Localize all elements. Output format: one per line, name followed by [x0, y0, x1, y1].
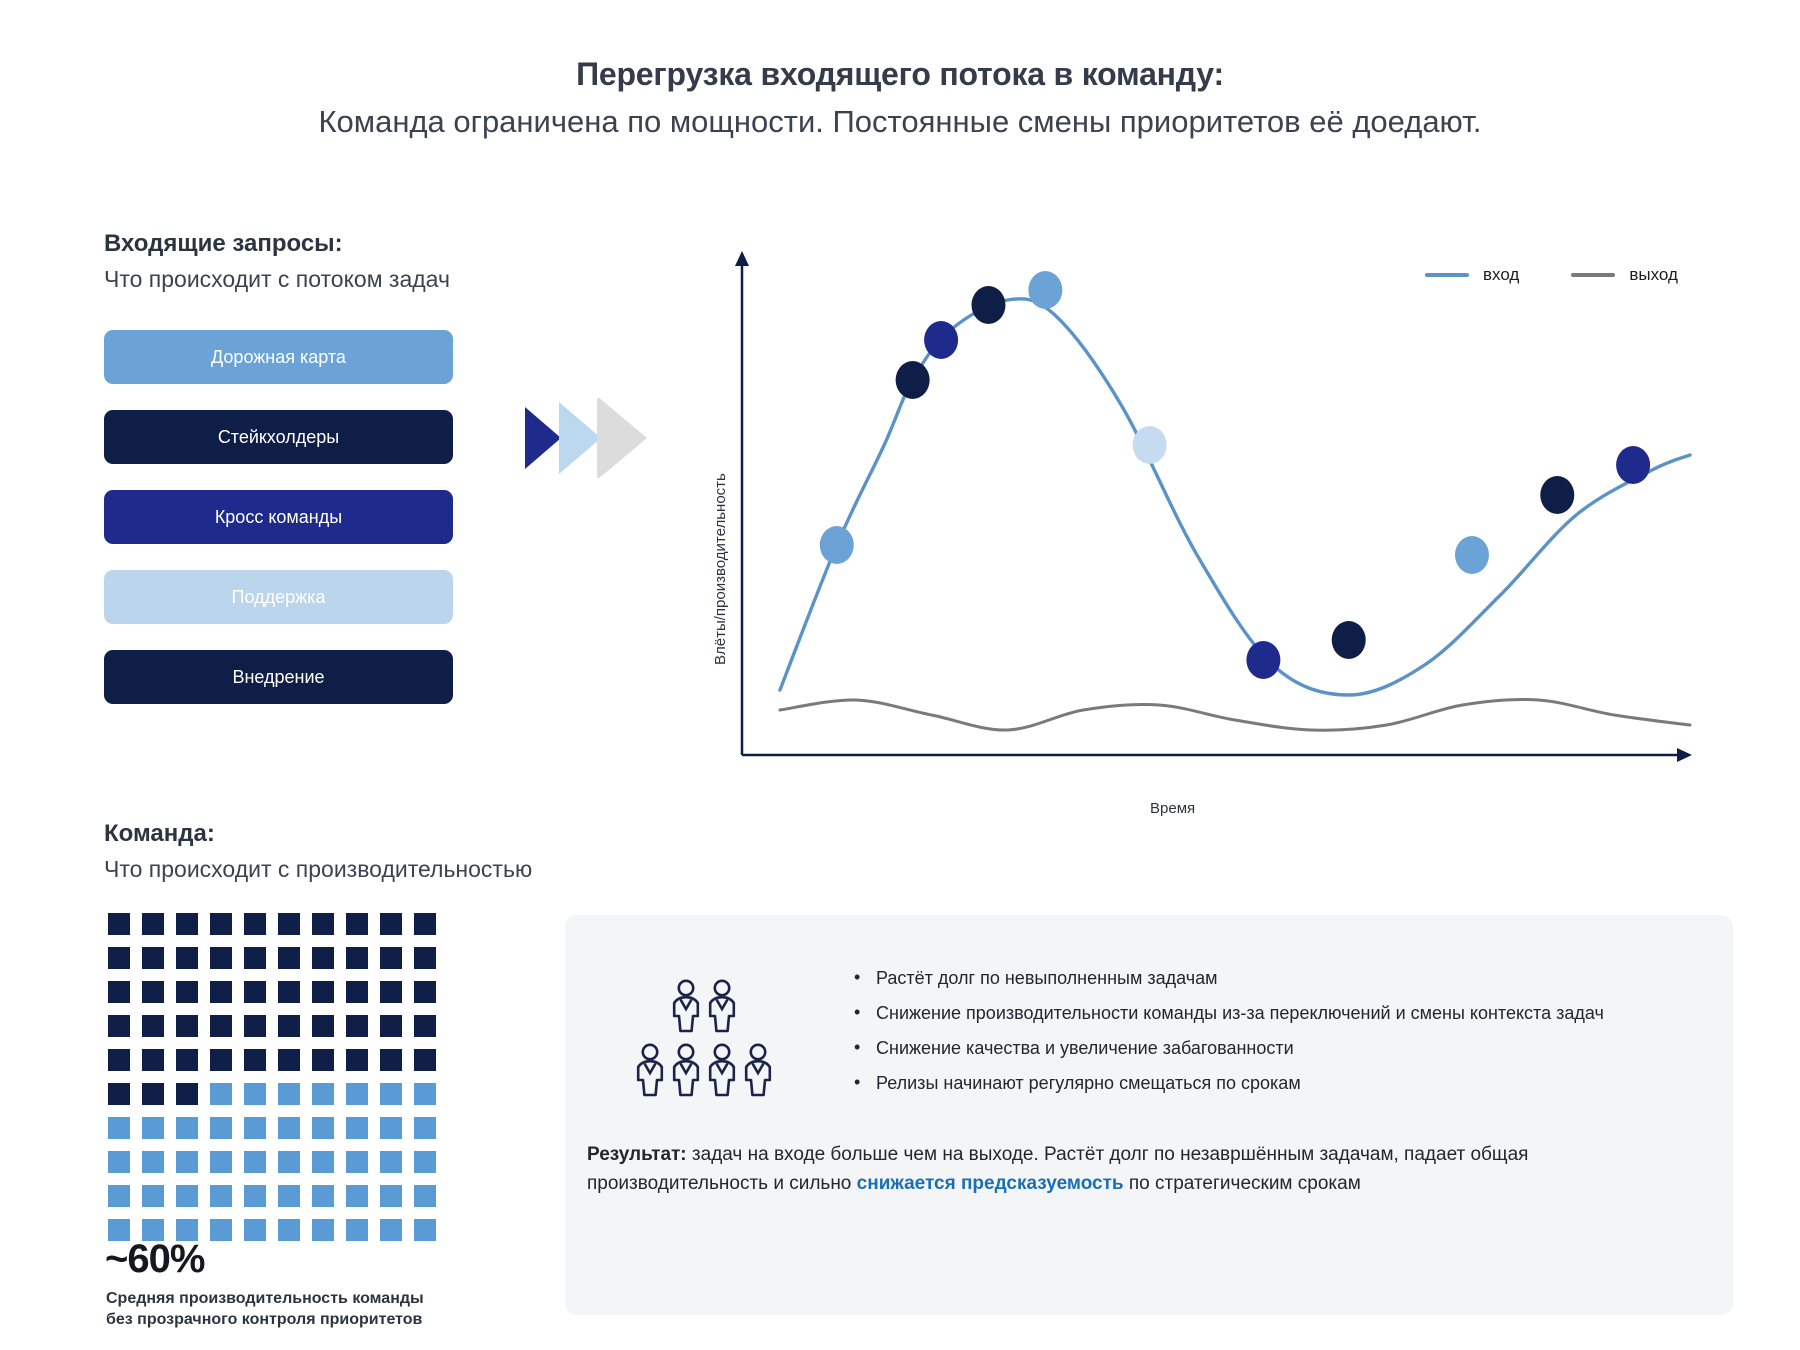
waffle-cell [380, 981, 402, 1003]
team-subheading: Что происходит с производительностью [104, 854, 532, 885]
consequence-bullet-1: Снижение производительности команды из-з… [850, 1000, 1680, 1026]
waffle-cell [414, 1083, 436, 1105]
waffle-cell [346, 913, 368, 935]
waffle-cell [142, 1015, 164, 1037]
waffle-cell [210, 1049, 232, 1071]
people-group-icon [633, 977, 783, 1122]
waffle-cell [142, 913, 164, 935]
incoming-subheading: Что происходит с потоком задач [104, 264, 450, 295]
y-axis-arrowhead-icon [735, 251, 749, 266]
incoming-pill-label: Дорожная карта [211, 347, 346, 368]
chart-data-point-0[interactable] [820, 526, 854, 564]
waffle-cell [380, 947, 402, 969]
person-icon [674, 1045, 698, 1095]
waffle-cell [210, 981, 232, 1003]
result-paragraph: Результат: задач на входе больше чем на … [587, 1140, 1697, 1199]
waffle-cell [312, 1219, 334, 1241]
legend-label: вход [1483, 265, 1519, 285]
waffle-cell [210, 1185, 232, 1207]
waffle-cell [414, 947, 436, 969]
waffle-cell [244, 1219, 266, 1241]
legend-label: выход [1629, 265, 1678, 285]
waffle-cell [210, 1015, 232, 1037]
waffle-cell [176, 1083, 198, 1105]
waffle-cell [244, 1185, 266, 1207]
waffle-cell [346, 1219, 368, 1241]
chart-legend: входвыход [1425, 265, 1678, 285]
waffle-cell [346, 1049, 368, 1071]
waffle-cell [244, 1015, 266, 1037]
chart-series-line-выход [780, 699, 1690, 730]
waffle-cell [414, 1015, 436, 1037]
infographic-page: Перегрузка входящего потока в команду: К… [0, 0, 1800, 1350]
waffle-cell [210, 1219, 232, 1241]
incoming-pill-1[interactable]: Стейкхолдеры [104, 410, 453, 464]
incoming-pill-label: Кросс команды [215, 507, 342, 528]
waffle-cell [108, 947, 130, 969]
waffle-cell [414, 1219, 436, 1241]
waffle-cell [108, 1083, 130, 1105]
waffle-cell [244, 1083, 266, 1105]
waffle-cell [108, 1117, 130, 1139]
waffle-cell [176, 1151, 198, 1173]
waffle-cell [278, 1219, 300, 1241]
incoming-request-pill-list: Дорожная картаСтейкхолдерыКросс командыП… [104, 330, 453, 704]
waffle-cell [142, 1151, 164, 1173]
waffle-cell [380, 1083, 402, 1105]
consequences-card: Растёт долг по невыполненным задачамСниж… [565, 915, 1733, 1315]
waffle-cell [210, 913, 232, 935]
chart-data-point-1[interactable] [896, 361, 930, 399]
waffle-cell [210, 947, 232, 969]
waffle-cell [380, 1015, 402, 1037]
waffle-cell [244, 981, 266, 1003]
waffle-cell [108, 1185, 130, 1207]
legend-swatch [1571, 273, 1615, 277]
result-highlight: снижается предсказуемость [857, 1173, 1124, 1194]
x-axis-arrowhead-icon [1677, 748, 1692, 762]
waffle-cell [414, 981, 436, 1003]
waffle-cell [380, 913, 402, 935]
chart-data-point-10[interactable] [1616, 446, 1650, 484]
chart-y-axis-label: Влёты/производительность [698, 65, 715, 365]
waffle-cell [176, 1117, 198, 1139]
productivity-caption: Средняя производительность командыбез пр… [106, 1288, 536, 1330]
waffle-cell [142, 1117, 164, 1139]
waffle-cell [312, 947, 334, 969]
waffle-cell [278, 1049, 300, 1071]
waffle-cell [176, 1185, 198, 1207]
waffle-cell [380, 1185, 402, 1207]
waffle-cell [142, 1185, 164, 1207]
waffle-cell [380, 1219, 402, 1241]
waffle-cell [312, 1185, 334, 1207]
waffle-cell [142, 1083, 164, 1105]
person-icon [710, 1045, 734, 1095]
waffle-cell [414, 1185, 436, 1207]
waffle-cell [210, 1083, 232, 1105]
incoming-pill-label: Поддержка [232, 587, 326, 608]
waffle-cell [278, 913, 300, 935]
incoming-pill-label: Стейкхолдеры [218, 427, 339, 448]
person-icon [674, 981, 698, 1031]
waffle-cell [244, 1049, 266, 1071]
person-icon [746, 1045, 770, 1095]
legend-item-выход: выход [1571, 265, 1678, 285]
productivity-caption-line: Средняя производительность команды [106, 1288, 536, 1309]
waffle-cell [278, 1117, 300, 1139]
waffle-cell [176, 1049, 198, 1071]
incoming-section-heading: Входящие запросы: Что происходит с поток… [104, 228, 450, 295]
person-icon [710, 981, 734, 1031]
waffle-cell [346, 1185, 368, 1207]
waffle-cell [312, 1117, 334, 1139]
header-block: Перегрузка входящего потока в команду: К… [0, 54, 1800, 142]
waffle-cell [312, 981, 334, 1003]
waffle-cell [210, 1151, 232, 1173]
team-heading: Команда: [104, 818, 532, 849]
chart-data-point-9[interactable] [1540, 476, 1574, 514]
waffle-cell [108, 1049, 130, 1071]
chart-data-point-3[interactable] [971, 286, 1005, 324]
chevron-arrow-icon-0 [525, 407, 561, 469]
waffle-cell [414, 1049, 436, 1071]
flow-arrows [525, 398, 685, 478]
waffle-cell [244, 1151, 266, 1173]
legend-item-вход: вход [1425, 265, 1519, 285]
waffle-cell [108, 981, 130, 1003]
waffle-cell [312, 1151, 334, 1173]
productivity-caption-line: без прозрачного контроля приоритетов [106, 1309, 536, 1330]
consequences-bullet-list: Растёт долг по невыполненным задачамСниж… [850, 965, 1680, 1105]
waffle-cell [278, 1083, 300, 1105]
waffle-cell [278, 947, 300, 969]
incoming-heading: Входящие запросы: [104, 228, 450, 259]
legend-swatch [1425, 273, 1469, 277]
waffle-cell [346, 1117, 368, 1139]
waffle-cell [278, 1015, 300, 1037]
result-text-part2: по стратегическим срокам [1124, 1173, 1361, 1194]
productivity-percent: ~60% [105, 1237, 204, 1282]
chart-data-point-6[interactable] [1246, 641, 1280, 679]
chevron-arrow-icon-1 [559, 402, 601, 474]
result-label: Результат: [587, 1144, 687, 1165]
waffle-cell [108, 913, 130, 935]
waffle-cell [278, 1151, 300, 1173]
chart-x-axis-label: Время [1150, 800, 1195, 817]
waffle-cell [108, 1151, 130, 1173]
waffle-cell [278, 1185, 300, 1207]
waffle-cell [244, 947, 266, 969]
chart-data-point-5[interactable] [1133, 426, 1167, 464]
waffle-cell [346, 1015, 368, 1037]
chart-data-point-2[interactable] [924, 321, 958, 359]
waffle-cell [414, 1151, 436, 1173]
waffle-cell [414, 1117, 436, 1139]
waffle-cell [142, 1049, 164, 1071]
waffle-cell [176, 913, 198, 935]
waffle-cell [380, 1151, 402, 1173]
chevron-arrow-icon-2 [597, 398, 647, 478]
waffle-cell [210, 1117, 232, 1139]
waffle-cell [176, 1015, 198, 1037]
waffle-cell [346, 1083, 368, 1105]
waffle-cell [142, 981, 164, 1003]
waffle-cell [176, 981, 198, 1003]
productivity-waffle-chart [108, 913, 442, 1247]
waffle-cell [346, 981, 368, 1003]
waffle-cell [346, 947, 368, 969]
chart-data-point-8[interactable] [1455, 536, 1489, 574]
waffle-cell [108, 1015, 130, 1037]
chart-data-point-4[interactable] [1028, 271, 1062, 309]
flow-chart [700, 245, 1730, 815]
waffle-cell [380, 1117, 402, 1139]
chart-data-point-7[interactable] [1332, 621, 1366, 659]
waffle-cell [142, 947, 164, 969]
page-subtitle: Команда ограничена по мощности. Постоянн… [0, 102, 1800, 142]
incoming-pill-label: Внедрение [232, 667, 324, 688]
team-section-heading: Команда: Что происходит с производительн… [104, 818, 532, 885]
person-icon [638, 1045, 662, 1095]
waffle-cell [312, 913, 334, 935]
page-title: Перегрузка входящего потока в команду: [0, 54, 1800, 94]
incoming-pill-3[interactable]: Поддержка [104, 570, 453, 624]
incoming-pill-0[interactable]: Дорожная карта [104, 330, 453, 384]
waffle-cell [244, 913, 266, 935]
waffle-cell [176, 947, 198, 969]
consequence-bullet-3: Релизы начинают регулярно смещаться по с… [850, 1070, 1680, 1096]
consequence-bullet-0: Растёт долг по невыполненным задачам [850, 965, 1680, 991]
waffle-cell [244, 1117, 266, 1139]
incoming-pill-2[interactable]: Кросс команды [104, 490, 453, 544]
waffle-cell [312, 1015, 334, 1037]
waffle-cell [278, 981, 300, 1003]
waffle-cell [380, 1049, 402, 1071]
waffle-cell [346, 1151, 368, 1173]
incoming-pill-4[interactable]: Внедрение [104, 650, 453, 704]
consequence-bullet-2: Снижение качества и увеличение забагован… [850, 1035, 1680, 1061]
waffle-cell [312, 1049, 334, 1071]
waffle-cell [312, 1083, 334, 1105]
waffle-cell [414, 913, 436, 935]
